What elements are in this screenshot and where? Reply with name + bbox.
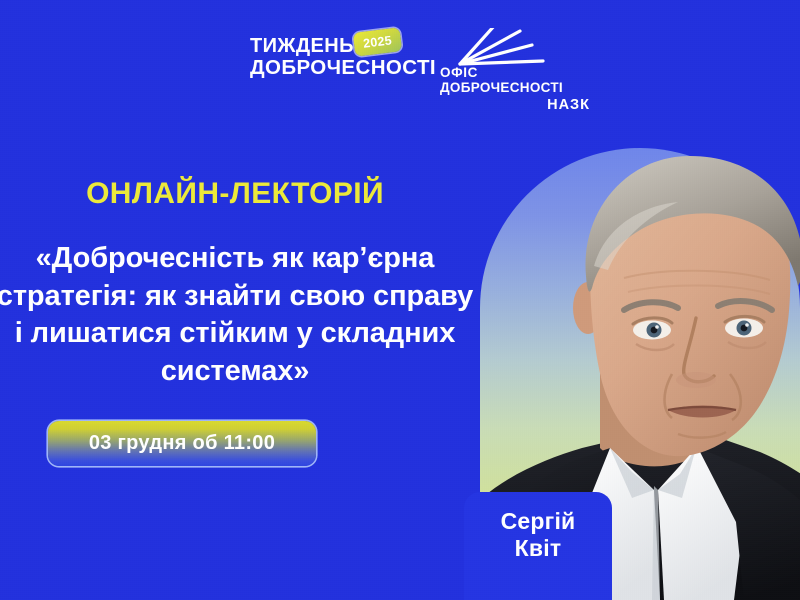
logo-office-line2: ДОБРОЧЕСНОСТІ (440, 80, 590, 95)
event-date-label: 03 грудня об 11:00 (89, 432, 275, 455)
headline-line-2: стратегія: як знайти свою справу (0, 278, 508, 316)
year-badge-label: 2025 (362, 33, 392, 50)
logo-office-line3: НАЗК (440, 97, 590, 113)
logo-week-line2: ДОБРОЧЕСНОСТІ (250, 58, 425, 79)
kicker-online-lecture: ОНЛАЙН-ЛЕКТОРІЙ (0, 178, 470, 210)
promo-poster: ТИЖДЕНЬ ДОБРОЧЕСНОСТІ 2025 ОФІС ДОБРОЧЕС… (0, 0, 800, 600)
page-title: «Доброчесність як кар’єрна стратегія: як… (0, 240, 508, 391)
logo-integrity-office: ОФІС ДОБРОЧЕСНОСТІ НАЗК (440, 28, 590, 118)
logo-bar: ТИЖДЕНЬ ДОБРОЧЕСНОСТІ 2025 ОФІС ДОБРОЧЕС… (0, 0, 800, 132)
logo-office-line1: ОФІС (440, 65, 590, 80)
speaker-name-card: Сергій Квіт (464, 492, 612, 600)
headline-line-4: системах» (0, 353, 508, 391)
logo-integrity-week: ТИЖДЕНЬ ДОБРОЧЕСНОСТІ 2025 (250, 36, 425, 79)
headline-line-3: і лишатися стійким у складних (0, 315, 508, 353)
speaker-first-name: Сергій (501, 508, 576, 535)
event-date-badge[interactable]: 03 грудня об 11:00 (48, 421, 316, 466)
speaker-last-name: Квіт (515, 535, 562, 562)
logo-office-text: ОФІС ДОБРОЧЕСНОСТІ НАЗК (440, 65, 590, 113)
headline-line-1: «Доброчесність як кар’єрна (0, 240, 508, 278)
